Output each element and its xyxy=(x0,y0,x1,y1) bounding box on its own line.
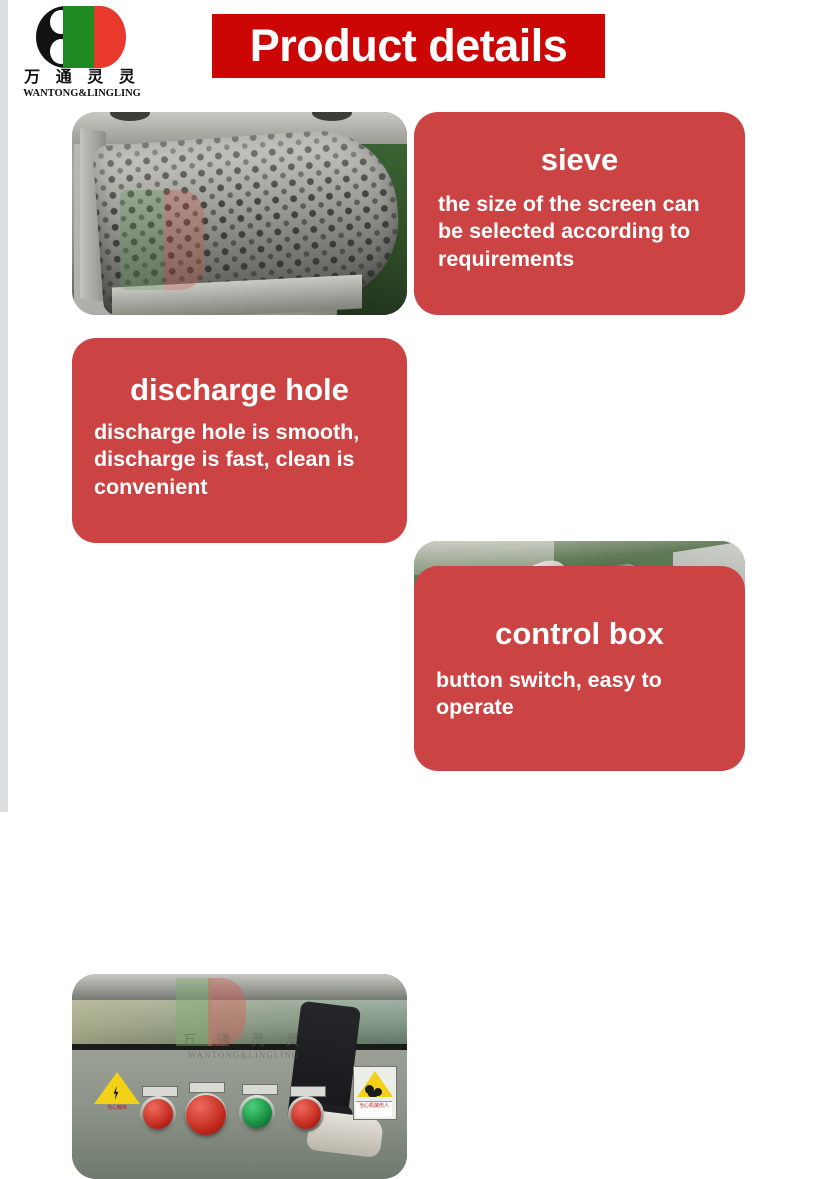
electrical-hazard-sticker: 当心触电 xyxy=(94,1072,140,1112)
card-discharge-hole: discharge hole discharge hole is smooth,… xyxy=(72,338,407,543)
left-edge-strip xyxy=(0,0,8,812)
card-control-box-body: button switch, easy to operate xyxy=(432,667,727,722)
hazard-triangle-icon xyxy=(94,1072,140,1104)
card-sieve: sieve the size of the screen can be sele… xyxy=(414,112,745,315)
sieve-notch-right xyxy=(312,112,352,121)
product-details-page: 万 通 灵 灵 WANTONG&LINGLING Product details… xyxy=(0,0,817,812)
sieve-notch-left xyxy=(110,112,150,121)
button-label-2 xyxy=(189,1082,225,1093)
push-button-red-1[interactable] xyxy=(143,1099,173,1129)
card-sieve-title: sieve xyxy=(432,144,727,177)
push-button-green[interactable] xyxy=(242,1098,272,1128)
electrical-hazard-text: 当心触电 xyxy=(96,1104,138,1111)
gear-icon-part-3 xyxy=(368,1091,378,1097)
page-header: 万 通 灵 灵 WANTONG&LINGLING Product details xyxy=(0,0,817,104)
button-label-3 xyxy=(242,1084,278,1095)
logo-english-name: WANTONG&LINGLING xyxy=(18,88,146,99)
pinch-hazard-sticker: 当心机械伤人 xyxy=(353,1066,397,1120)
ctrl-watermark-chinese: 万 通 灵 灵 xyxy=(182,1030,307,1050)
card-control-box: control box button switch, easy to opera… xyxy=(414,566,745,771)
logo-mark-icon xyxy=(36,6,126,68)
watermark-red-shape xyxy=(164,190,204,290)
page-title: Product details xyxy=(212,14,605,78)
title-banner: Product details xyxy=(212,14,605,78)
stray-comma-artifact: , xyxy=(94,534,99,543)
logo-chinese-name: 万 通 灵 灵 xyxy=(18,68,146,86)
card-sieve-body: the size of the screen can be selected a… xyxy=(432,191,727,274)
ctrl-watermark-english: WANTONG&LINGLING xyxy=(188,1050,299,1060)
perforated-sieve-drum-photo xyxy=(72,112,407,315)
push-button-red-2[interactable] xyxy=(291,1099,321,1129)
card-discharge-hole-title: discharge hole xyxy=(90,374,389,407)
control-box-photo: 万 通 灵 灵 WANTONG&LINGLING 当心触电 当心机械伤人 xyxy=(72,974,407,1179)
logo-red-shape xyxy=(94,6,126,68)
card-control-box-title: control box xyxy=(432,618,727,651)
card-discharge-hole-body: discharge hole is smooth, discharge is f… xyxy=(90,419,389,502)
sieve-watermark xyxy=(120,190,230,290)
emergency-stop-button[interactable] xyxy=(186,1095,226,1135)
pinch-hazard-text: 当心机械伤人 xyxy=(356,1101,392,1117)
company-logo: 万 通 灵 灵 WANTONG&LINGLING xyxy=(18,6,146,100)
watermark-green-band xyxy=(120,190,166,290)
logo-green-band xyxy=(63,6,96,68)
